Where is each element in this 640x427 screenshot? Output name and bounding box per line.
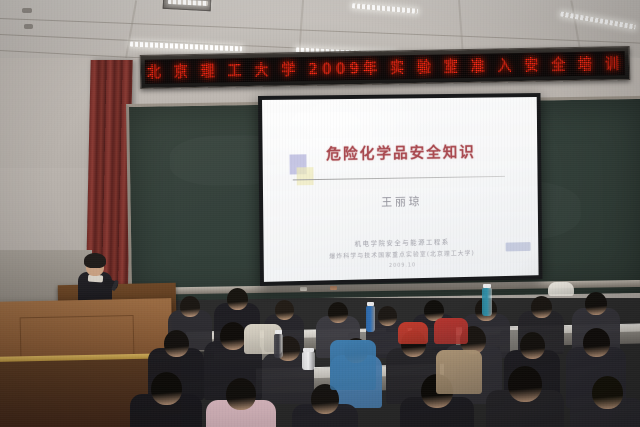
audience-member-red-jacket [434,318,468,344]
audience-member-head [164,330,189,357]
audience-member-head [585,292,607,315]
desk-object-water-bottle-blue [366,306,375,332]
audience-member-head [227,288,248,310]
audience-member-striped-shirt [330,340,376,390]
audience-member [486,366,564,427]
audience-member-head [378,306,397,326]
audience-member-red-top [398,322,428,344]
ac-vent-icon [22,8,32,13]
lecturer-hair [84,253,106,268]
audience-member-head [226,378,256,410]
ceiling-light-strip [560,11,636,29]
audience-member-head [151,372,182,405]
projector-glow [262,97,429,182]
audience-member [570,376,640,427]
desk-object-paper-cup [302,352,315,370]
audience-member [130,372,202,427]
slide-title: 危险化学品安全知识 [262,140,537,165]
audience-member-head [220,322,246,350]
audience-member-head [508,366,542,402]
audience-member-head [592,376,623,409]
projected-slide: 危险化学品安全知识 王丽琼 机电学院安全与能源工程系 爆炸科学与技术国家重点实验… [262,97,539,282]
desk-object-thermos-dark [274,334,283,358]
led-banner-text: 北 京 理 工 大 学 2009年 实 验 室 准 入 安 全 培 训 [147,52,623,83]
lecture-hall-photo: 北 京 理 工 大 学 2009年 实 验 室 准 入 安 全 培 训 危险化学… [0,0,640,427]
desk-object-cap [483,284,491,288]
chalk-piece [330,286,337,290]
audience-member-head [520,332,545,359]
desk-object-cap [367,302,374,306]
ceiling-light-strip [352,3,418,14]
audience-member-white-cap [548,282,574,296]
desk-object-cap [303,348,314,352]
slide-decoration-square-yellow [297,167,314,185]
audience-member [206,378,276,427]
audience-member-head [275,300,294,320]
chalk-piece [300,287,307,291]
audience-member-tan-coat [436,350,482,394]
slide-date: 2009.10 [264,260,539,272]
audience-member-head [531,296,552,318]
desk-object-water-bottle-teal [482,288,492,316]
led-banner-display: 北 京 理 工 大 学 2009年 实 验 室 准 入 安 全 培 训 [145,51,625,84]
slide-author-name: 王丽琼 [263,191,538,212]
projection-screen: 危险化学品安全知识 王丽琼 机电学院安全与能源工程系 爆炸科学与技术国家重点实验… [258,93,542,286]
ceiling-light-strip [130,42,242,52]
audience-member-head [583,328,610,357]
ac-vent-icon [24,24,33,29]
audience-member [292,384,358,427]
audience-member-head [328,302,348,323]
audience-member-head [180,296,200,317]
desk-object-cap [275,330,282,334]
slide-logo-icon [506,242,531,251]
